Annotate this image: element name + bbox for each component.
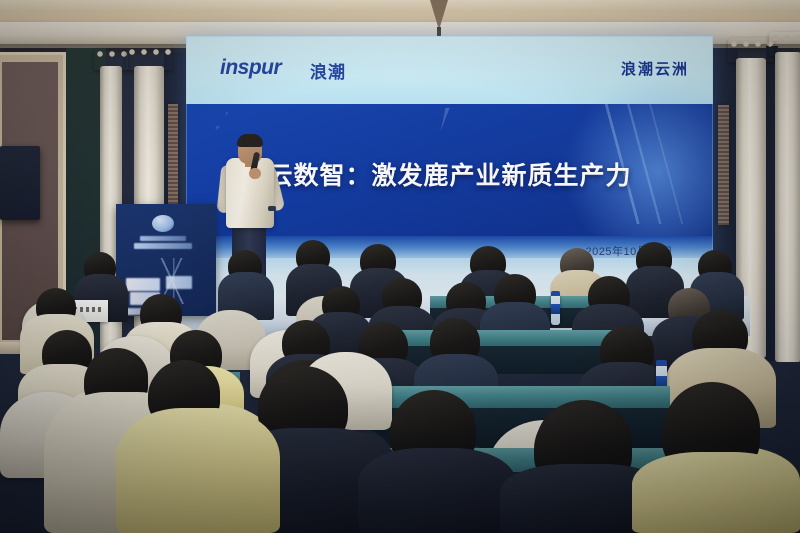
globe-icon	[152, 215, 174, 232]
bottle-cap	[656, 360, 667, 366]
ceiling-lip	[0, 0, 800, 10]
column-4	[775, 52, 800, 362]
decorative-strip-right	[718, 105, 729, 225]
speaker-hair	[237, 134, 263, 147]
bottle-label	[551, 304, 560, 314]
bottle-cap	[551, 291, 560, 296]
pendant-light-icon	[430, 0, 448, 30]
podium-text-line-2	[134, 243, 192, 249]
audience-body	[358, 448, 516, 533]
conference-photo: inspur 浪潮 浪潮云洲 云数智：激发鹿产业新质生产力 2025年10月23…	[0, 0, 800, 533]
inspur-logo-cn: 浪潮	[310, 58, 346, 83]
audience-body	[116, 408, 280, 533]
audience-body	[632, 452, 800, 533]
podium-headline-2	[166, 276, 192, 289]
podium-headline-1	[126, 278, 160, 291]
podium-text-line-1	[140, 236, 186, 241]
inspur-logo: inspur	[220, 56, 281, 80]
wall-monitor	[0, 146, 40, 220]
speaker-watch	[268, 206, 276, 211]
partner-logo: 浪潮云洲	[621, 58, 689, 79]
speaker-hand	[249, 168, 261, 179]
